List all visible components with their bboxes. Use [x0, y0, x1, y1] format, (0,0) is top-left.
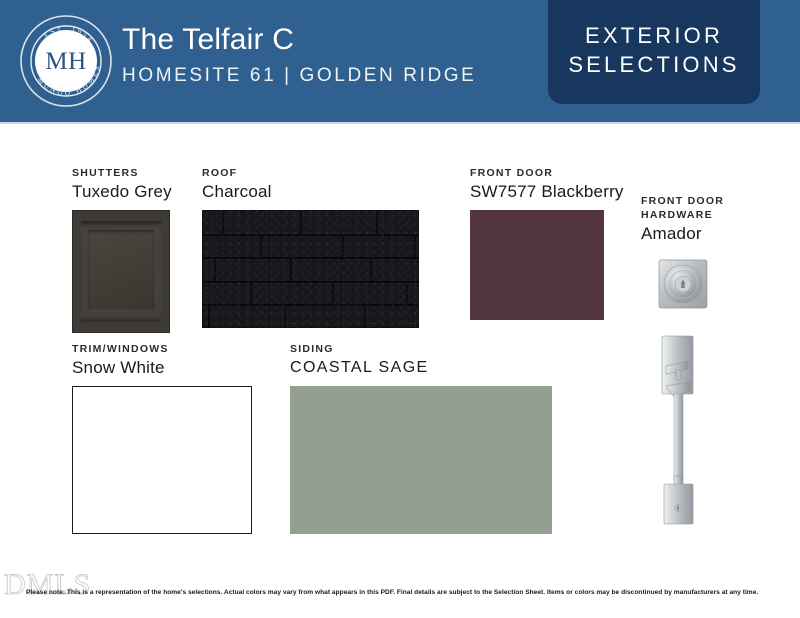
selection-category-label: FRONT DOOR — [470, 166, 624, 180]
siding-swatch — [290, 386, 552, 534]
selection-item-trim-windows: TRIM/WINDOWS Snow White — [72, 342, 252, 534]
roof-swatch — [202, 210, 419, 328]
logo-monogram: MH — [45, 48, 86, 75]
shingle-row — [202, 304, 419, 328]
selection-item-shutters: SHUTTERS Tuxedo Grey — [72, 166, 172, 333]
trim-windows-swatch — [72, 386, 252, 534]
shingle-row — [202, 281, 419, 307]
selection-category-label-line2: HARDWARE — [641, 208, 724, 222]
exterior-selections-badge: EXTERIOR SELECTIONS — [548, 0, 760, 104]
selection-value-label: Amador — [641, 223, 724, 245]
deadbolt-svg — [655, 256, 711, 312]
shutters-swatch — [72, 210, 172, 333]
deadbolt-swatch — [655, 256, 711, 312]
shutter-raised-panel — [88, 230, 154, 311]
badge-line-1: EXTERIOR — [585, 21, 723, 50]
trim-color-sample — [72, 386, 252, 534]
selection-item-front-door: FRONT DOOR SW7577 Blackberry — [470, 166, 624, 320]
selection-value-label: Tuxedo Grey — [72, 181, 172, 203]
selection-item-siding: SIDING COASTAL SAGE — [290, 342, 552, 534]
front-door-swatch — [470, 210, 624, 320]
selection-category-label: SHUTTERS — [72, 166, 172, 180]
selection-value-label: Snow White — [72, 357, 252, 379]
handleset-swatch — [648, 332, 714, 528]
selection-item-roof: ROOF Charcoal — [202, 166, 419, 328]
title-block: The Telfair C HOMESITE 61 | GOLDEN RIDGE — [122, 22, 522, 87]
siding-color-sample — [290, 386, 552, 534]
shingle-row — [202, 210, 419, 236]
homesite-subtitle: HOMESITE 61 | GOLDEN RIDGE — [122, 64, 522, 87]
selection-category-label: SIDING — [290, 342, 552, 356]
deadbolt-sample-image — [655, 256, 711, 312]
selection-value-label: Charcoal — [202, 181, 419, 203]
selection-item-front-door-hardware: FRONT DOOR HARDWARE Amador — [641, 194, 724, 245]
disclaimer-text: Please note: This is a representation of… — [26, 589, 796, 596]
page-header: EST. 1954 MUNGO HOMES MH The Telfair C H… — [0, 0, 800, 122]
shingle-sample-image — [202, 210, 419, 328]
selection-category-label-line1: FRONT DOOR — [641, 194, 724, 208]
page-footer: DMLS Please note: This is a representati… — [0, 566, 800, 618]
badge-line-2: SELECTIONS — [568, 50, 739, 79]
selection-category-label: ROOF — [202, 166, 419, 180]
dmls-watermark: DMLS — [4, 568, 91, 602]
shingle-row — [202, 257, 419, 283]
page-title: The Telfair C — [122, 22, 522, 58]
handleset-sample-image — [648, 332, 714, 528]
selection-value-label: COASTAL SAGE — [290, 357, 552, 379]
shingle-row — [202, 234, 419, 260]
selection-category-label: TRIM/WINDOWS — [72, 342, 252, 356]
logo-svg: EST. 1954 MUNGO HOMES MH — [18, 13, 114, 109]
mungo-homes-logo: EST. 1954 MUNGO HOMES MH — [18, 13, 114, 109]
shutter-sample-image — [72, 210, 170, 333]
handleset-svg — [648, 332, 714, 528]
front-door-color-sample — [470, 210, 604, 320]
selection-value-label: SW7577 Blackberry — [470, 181, 624, 203]
selections-grid: SHUTTERS Tuxedo Grey ROOF Charcoal FRONT… — [0, 124, 800, 564]
